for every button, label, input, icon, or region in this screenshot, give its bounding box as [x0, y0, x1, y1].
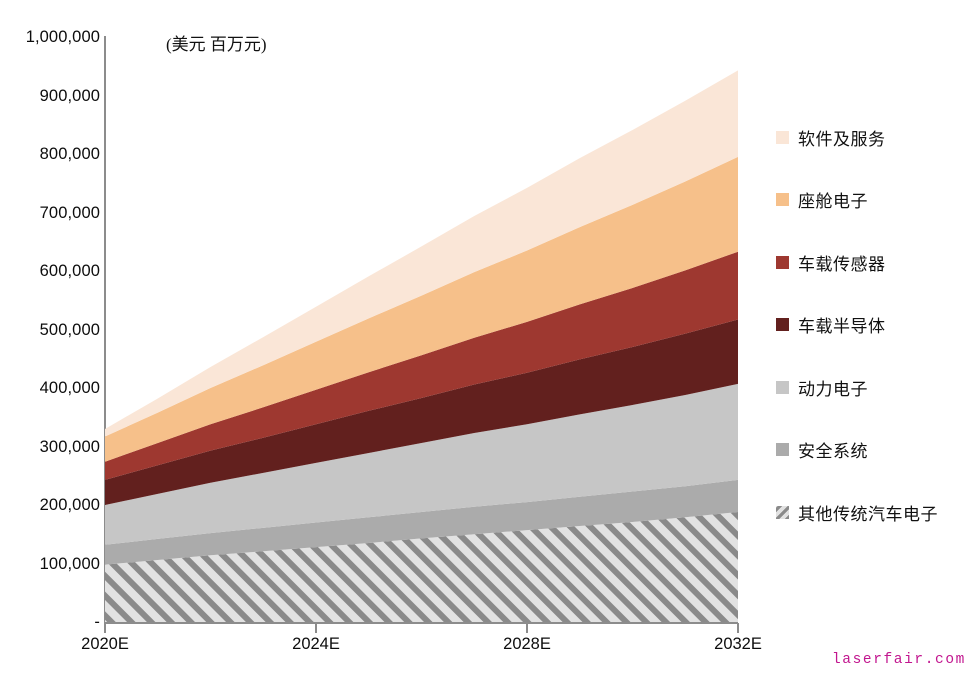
- legend-item-label: 安全系统: [798, 437, 868, 462]
- legend-item[interactable]: 车载半导体: [776, 294, 976, 357]
- legend-item[interactable]: 车载传感器: [776, 231, 976, 294]
- chart-legend: 软件及服务座舱电子车载传感器车载半导体动力电子安全系统其他传统汽车电子: [776, 106, 976, 544]
- legend-item[interactable]: 其他传统汽车电子: [776, 481, 976, 544]
- legend-item-label: 车载传感器: [798, 250, 886, 275]
- legend-item-label: 软件及服务: [798, 125, 886, 150]
- legend-item-label: 座舱电子: [798, 187, 868, 212]
- watermark-laserfair: laserfair.com: [832, 652, 966, 668]
- legend-item[interactable]: 安全系统: [776, 419, 976, 482]
- legend-swatch-icon: [776, 256, 789, 269]
- legend-item-label: 动力电子: [798, 375, 868, 400]
- legend-item-label: 车载半导体: [798, 312, 886, 337]
- legend-swatch-icon: [776, 193, 789, 206]
- legend-item[interactable]: 软件及服务: [776, 106, 976, 169]
- legend-item-label: 其他传统汽车电子: [798, 500, 938, 525]
- chart-container: (美元 百万元) -100,000200,000300,000400,00050…: [0, 0, 980, 698]
- legend-swatch-icon: [776, 506, 789, 519]
- legend-swatch-icon: [776, 318, 789, 331]
- area-series-group: [105, 70, 738, 622]
- legend-item[interactable]: 动力电子: [776, 356, 976, 419]
- legend-swatch-icon: [776, 443, 789, 456]
- legend-item[interactable]: 座舱电子: [776, 169, 976, 232]
- legend-swatch-icon: [776, 131, 789, 144]
- legend-swatch-icon: [776, 381, 789, 394]
